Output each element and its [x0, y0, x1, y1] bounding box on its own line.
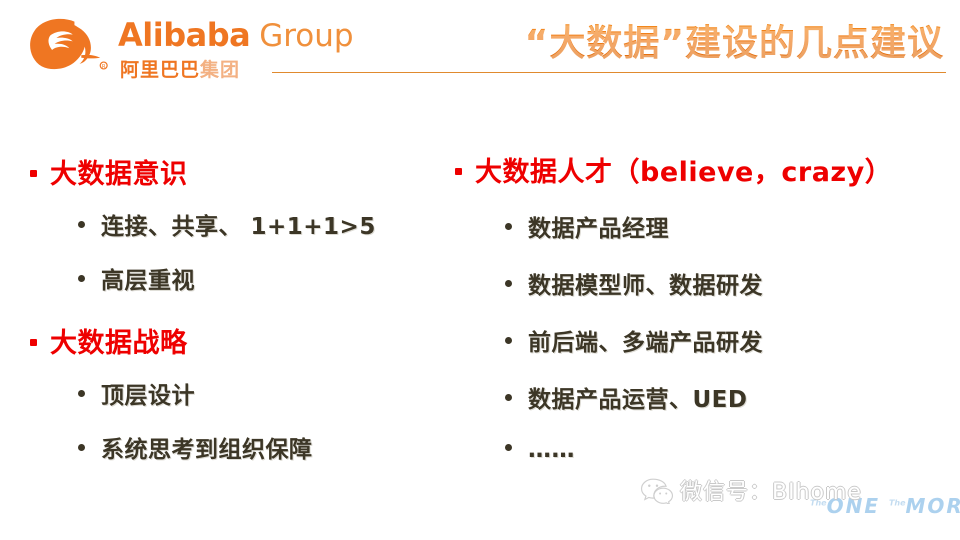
watermark: TheONE TheMORE 微信号：BIhome [640, 472, 960, 534]
level2-item: 顶层设计 [78, 376, 450, 410]
round-bullet-icon [505, 337, 512, 344]
left-content-column: 大数据意识 连接、共享、 1+1+1>5 高层重视 大数据战略 顶层设计 [30, 152, 450, 484]
one-more-the-2: The [889, 498, 906, 507]
level2-item: 系统思考到组织保障 [78, 430, 450, 464]
logo-brand-chinese-main: 阿里巴巴 [120, 59, 200, 81]
level2-item: 高层重视 [78, 261, 450, 295]
round-bullet-icon [78, 221, 85, 228]
logo-brand-light: Group [259, 21, 353, 52]
level2-item-label: 数据产品运营、UED [528, 380, 747, 414]
level2-item: 前后端、多端产品研发 [505, 323, 955, 357]
round-bullet-icon [78, 390, 85, 397]
one-more-more: MORE [906, 494, 960, 518]
round-bullet-icon [505, 223, 512, 230]
level2-item: 数据模型师、数据研发 [505, 266, 955, 300]
level2-item: 连接、共享、 1+1+1>5 [78, 207, 450, 241]
level2-item-label: 数据模型师、数据研发 [528, 266, 763, 300]
level2-item-label: …… [528, 437, 575, 463]
right-content-column: 大数据人才（believe，crazy） 数据产品经理 数据模型师、数据研发 前… [455, 150, 955, 486]
bullet-group: 大数据战略 顶层设计 系统思考到组织保障 [30, 321, 450, 464]
level1-heading-label: 大数据战略 [50, 321, 188, 360]
square-bullet-icon [30, 170, 37, 177]
square-bullet-icon [455, 168, 462, 175]
svg-text:R: R [102, 64, 106, 70]
round-bullet-icon [78, 275, 85, 282]
slide-header: R Alibaba Group 阿里巴巴集团 “大数据”建设的几点建议 [0, 0, 960, 95]
logo-brand-bold: Alibaba [118, 19, 250, 51]
round-bullet-icon [505, 280, 512, 287]
alibaba-smiley-mark-icon: R [28, 16, 114, 72]
presentation-slide: R Alibaba Group 阿里巴巴集团 “大数据”建设的几点建议 大数据意… [0, 0, 960, 540]
level2-item-label: 系统思考到组织保障 [101, 430, 313, 464]
level2-item-label: 数据产品经理 [528, 209, 669, 243]
bullet-group: 大数据意识 连接、共享、 1+1+1>5 高层重视 [30, 152, 450, 295]
header-divider-rule [272, 72, 946, 73]
level1-heading-label: 大数据意识 [50, 152, 188, 191]
square-bullet-icon [30, 339, 37, 346]
wechat-icon [640, 476, 674, 504]
round-bullet-icon [78, 444, 85, 451]
round-bullet-icon [505, 444, 512, 451]
round-bullet-icon [505, 394, 512, 401]
bullet-group: 大数据人才（believe，crazy） 数据产品经理 数据模型师、数据研发 前… [455, 150, 955, 463]
level2-item: 数据产品运营、UED [505, 380, 955, 414]
logo-brand-chinese: 阿里巴巴集团 [120, 55, 354, 82]
level2-item-label: 高层重视 [101, 261, 195, 295]
level1-heading: 大数据人才（believe，crazy） [455, 150, 955, 189]
level2-item: …… [505, 437, 955, 463]
slide-title: “大数据”建设的几点建议 [525, 14, 944, 66]
level1-heading-label: 大数据人才（believe，crazy） [475, 150, 892, 189]
level1-heading: 大数据意识 [30, 152, 450, 191]
level2-item-label: 前后端、多端产品研发 [528, 323, 763, 357]
level1-heading: 大数据战略 [30, 321, 450, 360]
logo-brand-chinese-faded: 集团 [200, 59, 240, 81]
wechat-id-label: 微信号：BIhome [680, 474, 862, 506]
level2-item-label: 顶层设计 [101, 376, 195, 410]
wechat-watermark-row: 微信号：BIhome [640, 474, 862, 506]
level2-item: 数据产品经理 [505, 209, 955, 243]
level2-item-label: 连接、共享、 1+1+1>5 [101, 207, 376, 241]
